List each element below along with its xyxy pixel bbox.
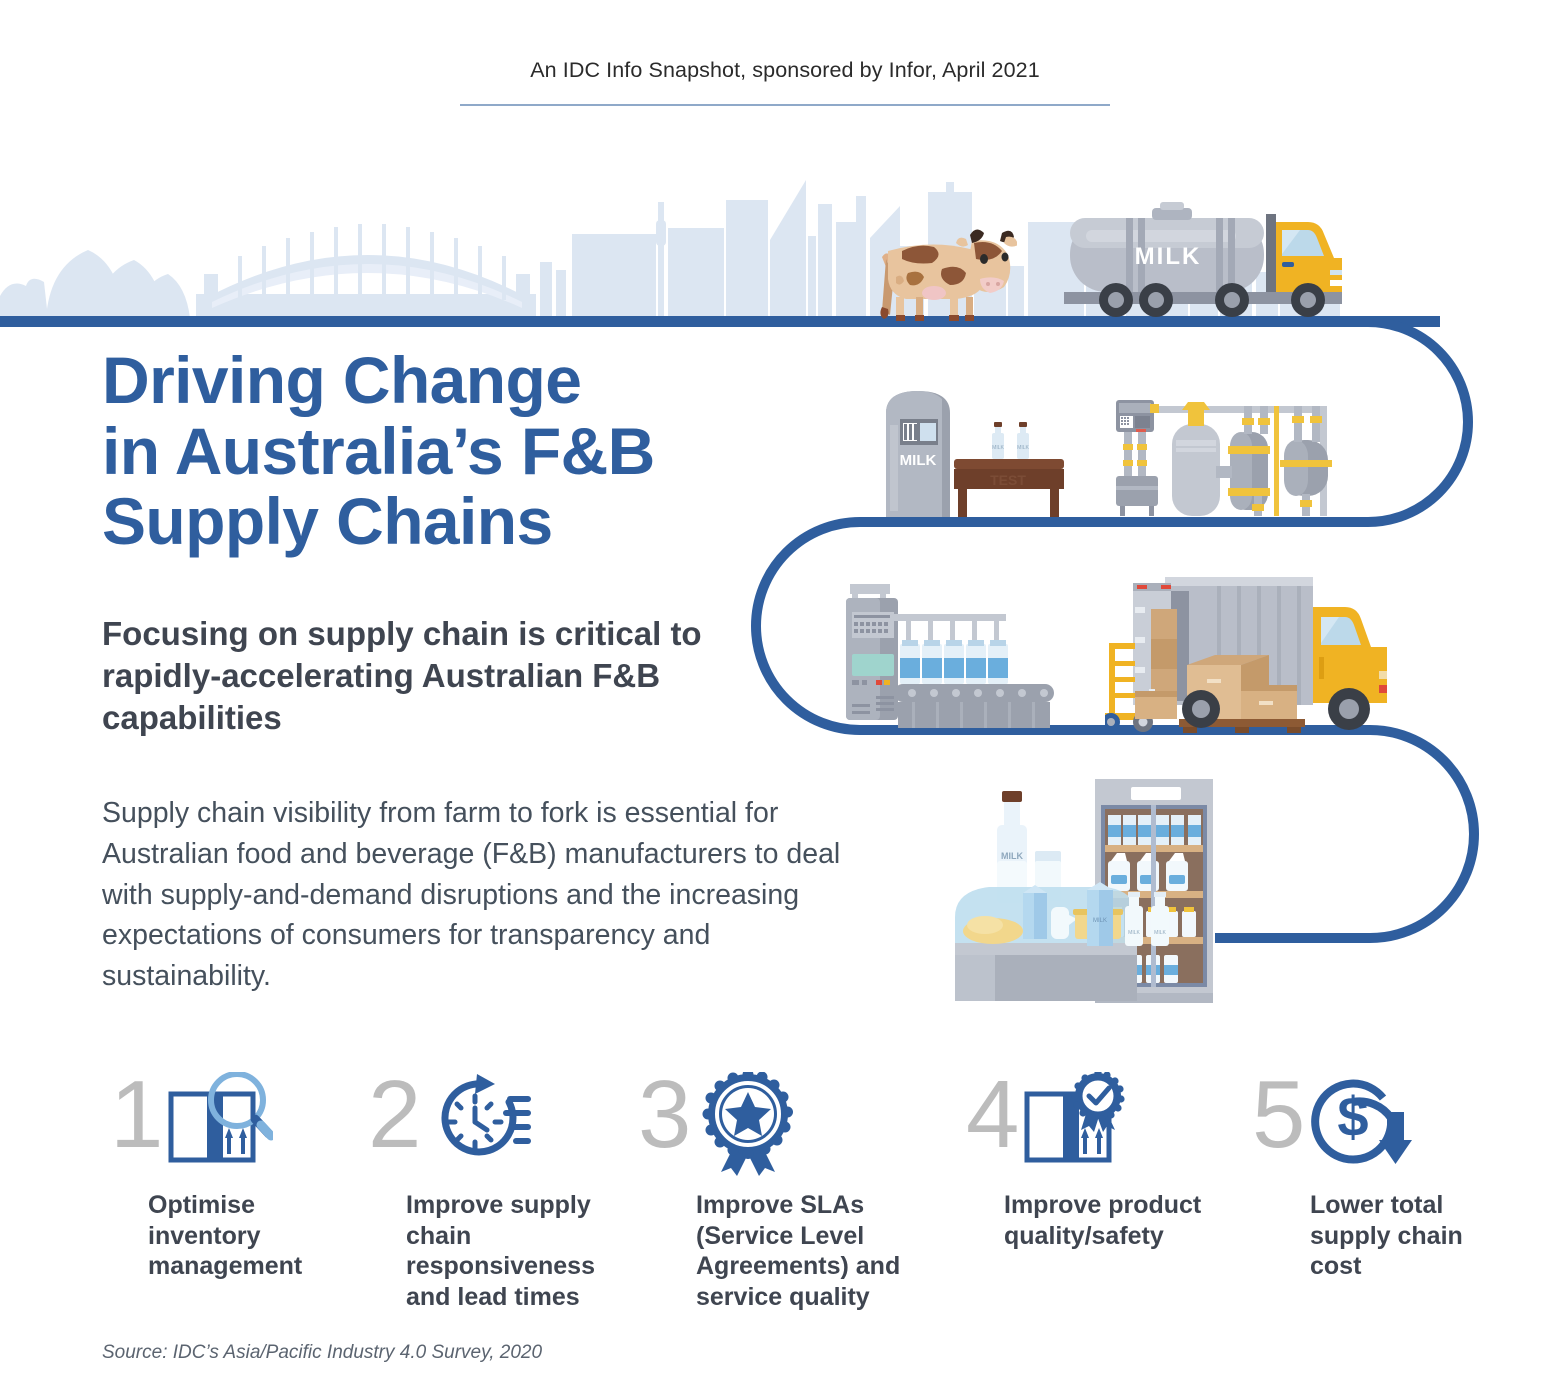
benefit-item-1[interactable]: 1 Optimise inventory management [110,1072,360,1282]
bottling-line [830,570,1090,730]
bottle-label-1: MILK [992,445,1004,451]
page-title: Driving Change in Australia’s F&B Supply… [102,345,832,557]
infographic-page: An IDC Info Snapshot, sponsored by Infor… [0,0,1563,1388]
benefit-label-4: Improve product quality/safety [1004,1190,1216,1251]
title-line-1: Driving Change [102,345,832,416]
test-table-label: TEST [990,472,1026,488]
svg-text:MILK: MILK [1093,918,1107,924]
pasteurisation-equipment [1110,388,1345,520]
benefit-label-1: Optimise inventory management [148,1190,360,1282]
page-body-text: Supply chain visibility from farm to for… [102,793,862,997]
quality-badge-icon [1021,1072,1129,1176]
benefits-list: 1 Optimise inventory management 2 [100,1072,1540,1322]
title-line-2: in Australia’s F&B [102,416,832,487]
header-divider [460,104,1110,106]
award-ribbon-icon [693,1072,801,1176]
silo-milk-label: MILK [900,452,937,469]
retail-bottle-label: MILK [1001,851,1023,861]
benefit-number-5: 5 [1252,1072,1305,1158]
page-subtitle: Focusing on supply chain is critical to … [102,613,782,740]
benefit-number-4: 4 [966,1072,1019,1158]
milk-tanker-truck: MILK [1060,196,1350,322]
dollar-down-arrow-icon: $ [1307,1072,1415,1176]
header-text: An IDC Info Snapshot, sponsored by Infor… [460,58,1110,84]
benefit-label-2: Improve supply chain responsiveness and … [406,1190,618,1312]
svg-text:$: $ [1338,1085,1369,1148]
header: An IDC Info Snapshot, sponsored by Infor… [460,58,1110,84]
cow-illustration [872,215,1017,325]
benefit-item-3[interactable]: 3 [638,1072,906,1312]
benefit-number-3: 3 [638,1072,691,1158]
benefit-item-2[interactable]: 2 [368,1072,618,1312]
case-bottle-label-2: MILK [1154,930,1166,936]
benefit-number-2: 2 [368,1072,421,1158]
benefit-item-5[interactable]: 5 $ Lower total supply chain cost [1252,1072,1502,1282]
title-line-3: Supply Chains [102,486,832,557]
clock-speed-icon [423,1072,531,1176]
delivery-truck-loading [1105,565,1405,733]
benefit-label-5: Lower total supply chain cost [1310,1190,1502,1282]
counter-milk-bottles: MILK MILK MILK [1085,880,1205,960]
inventory-magnifier-icon [165,1072,273,1176]
case-bottle-label-1: MILK [1128,930,1140,936]
bottle-label-2: MILK [1017,445,1029,451]
benefit-item-4[interactable]: 4 [966,1072,1216,1251]
benefit-number-1: 1 [110,1072,163,1158]
benefit-label-3: Improve SLAs (Service Level Agreements) … [696,1190,906,1312]
source-note: Source: IDC’s Asia/Pacific Industry 4.0 … [102,1342,542,1364]
tanker-milk-label: MILK [1135,243,1202,270]
milk-silo-and-test-table: MILK TEST MILK MILK [872,385,1092,520]
